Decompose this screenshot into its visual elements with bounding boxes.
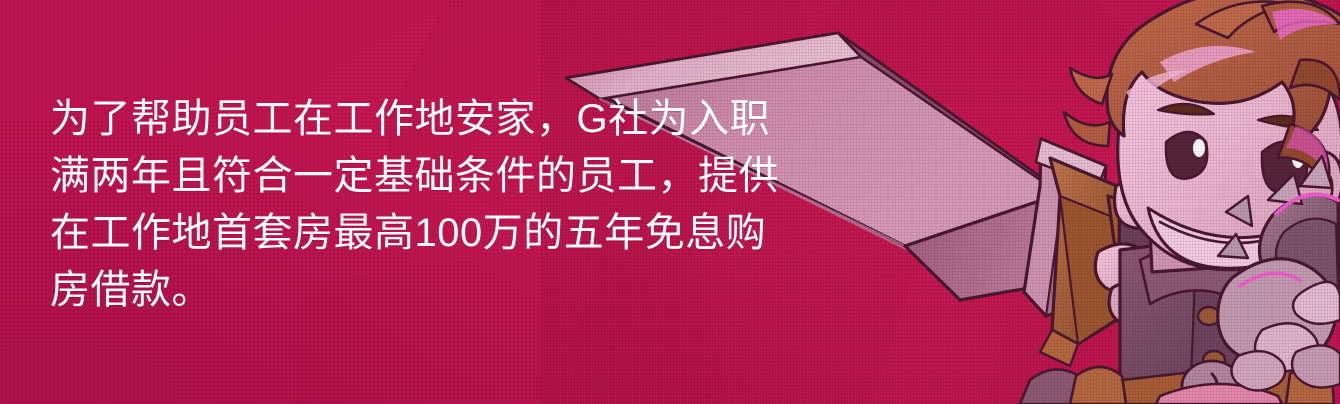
promo-copy-text: 为了帮助员工在工作地安家，G社为入职 满两年且符合一定基础条件的员工，提供 在工… — [50, 91, 880, 319]
promo-banner: 为了帮助员工在工作地安家，G社为入职 满两年且符合一定基础条件的员工，提供 在工… — [0, 0, 1340, 404]
